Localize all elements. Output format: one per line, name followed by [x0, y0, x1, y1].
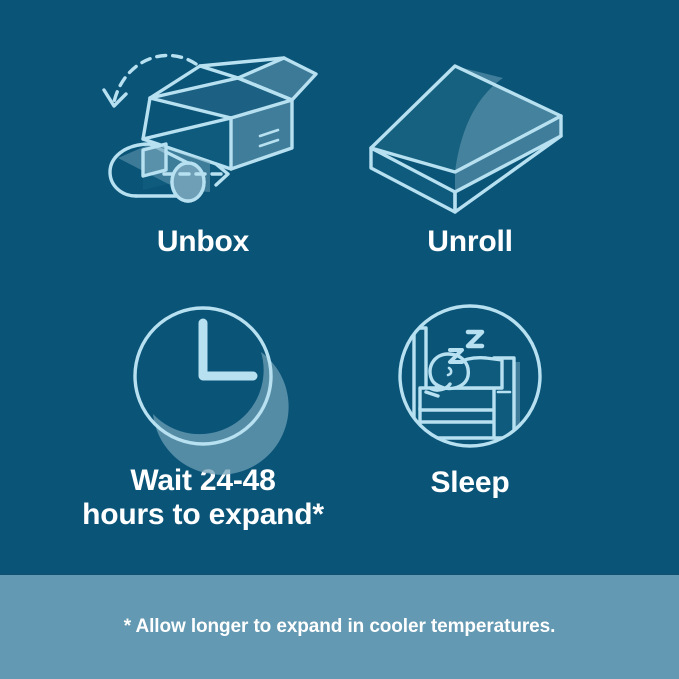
step-unroll: Unroll [320, 40, 620, 259]
person-sleeping-in-bed-icon [390, 296, 550, 456]
wait-icon-wrap [53, 296, 353, 456]
mattress-setup-instructions-infographic: Unbox [0, 0, 679, 679]
unroll-icon-wrap [320, 40, 620, 215]
step-wait: Wait 24-48 hours to expand* [53, 296, 353, 532]
step-label-unroll: Unroll [320, 225, 620, 259]
flat-mattress-icon [355, 40, 585, 215]
step-label-wait: Wait 24-48 hours to expand* [53, 464, 353, 532]
footnote-band: * Allow longer to expand in cooler tempe… [0, 573, 679, 679]
step-label-sleep: Sleep [320, 466, 620, 500]
step-unbox: Unbox [53, 40, 353, 259]
step-label-unbox: Unbox [53, 225, 353, 259]
open-box-with-rolled-mattress-icon [88, 40, 318, 215]
footnote-text: * Allow longer to expand in cooler tempe… [124, 616, 556, 638]
clock-icon [123, 296, 283, 456]
steps-grid: Unbox [0, 0, 679, 573]
unbox-icon-wrap [53, 40, 353, 215]
step-sleep: Sleep [320, 296, 620, 500]
sleep-icon-wrap [320, 296, 620, 456]
